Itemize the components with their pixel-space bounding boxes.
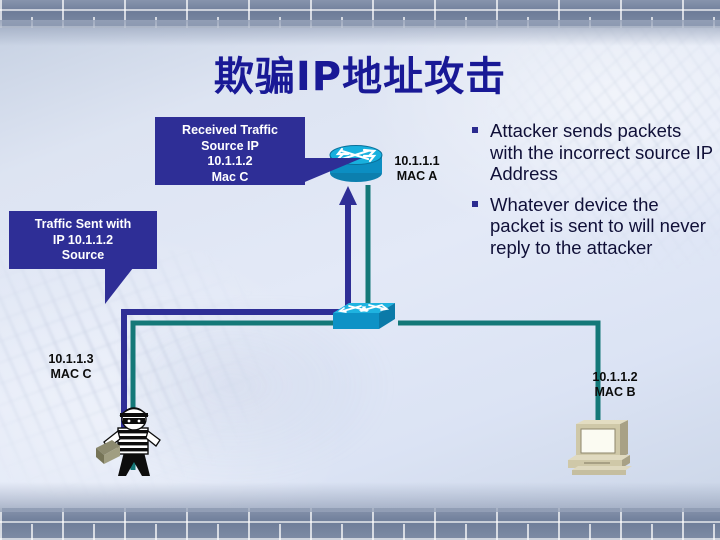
callout-line: IP 10.1.1.2 [9, 233, 157, 249]
attacker-label: 10.1.1.3 MAC C [16, 352, 126, 382]
callout-line: Source IP [155, 139, 305, 155]
router-ip: 10.1.1.1 [382, 154, 452, 169]
desktop-computer-icon [562, 418, 634, 480]
callout-line: Traffic Sent with [9, 217, 157, 233]
router-label: 10.1.1.1 MAC A [382, 154, 452, 184]
callout-received-traffic: Received Traffic Source IP 10.1.1.2 Mac … [155, 117, 305, 185]
callout-tail-sent [105, 268, 133, 304]
attacker-mac: MAC C [16, 367, 126, 382]
square-bullet-icon [472, 201, 478, 207]
callout-line: Received Traffic [155, 123, 305, 139]
callout-tail-received [300, 158, 362, 184]
switch-icon [331, 301, 397, 335]
callout-line: Mac C [155, 170, 305, 186]
callout-line: 10.1.1.2 [155, 154, 305, 170]
callout-line: Source [9, 248, 157, 264]
attacker-icon [94, 404, 170, 482]
callout-traffic-sent: Traffic Sent with IP 10.1.1.2 Source [9, 211, 157, 269]
bullet-text: Whatever device the packet is sent to wi… [490, 194, 716, 259]
victim-pc-label: 10.1.1.2 MAC B [560, 370, 670, 400]
slide-canvas: 欺骗IP地址攻击 [0, 0, 720, 540]
spoofed-traffic-arrowhead [339, 186, 357, 205]
victim-pc-mac: MAC B [560, 385, 670, 400]
bullet-text: Attacker sends packets with the incorrec… [490, 120, 716, 185]
victim-pc-ip: 10.1.1.2 [560, 370, 670, 385]
square-bullet-icon [472, 127, 478, 133]
list-item: Whatever device the packet is sent to wi… [472, 194, 716, 259]
router-mac: MAC A [382, 169, 452, 184]
list-item: Attacker sends packets with the incorrec… [472, 120, 716, 185]
bullet-list: Attacker sends packets with the incorrec… [472, 120, 716, 267]
attacker-ip: 10.1.1.3 [16, 352, 126, 367]
